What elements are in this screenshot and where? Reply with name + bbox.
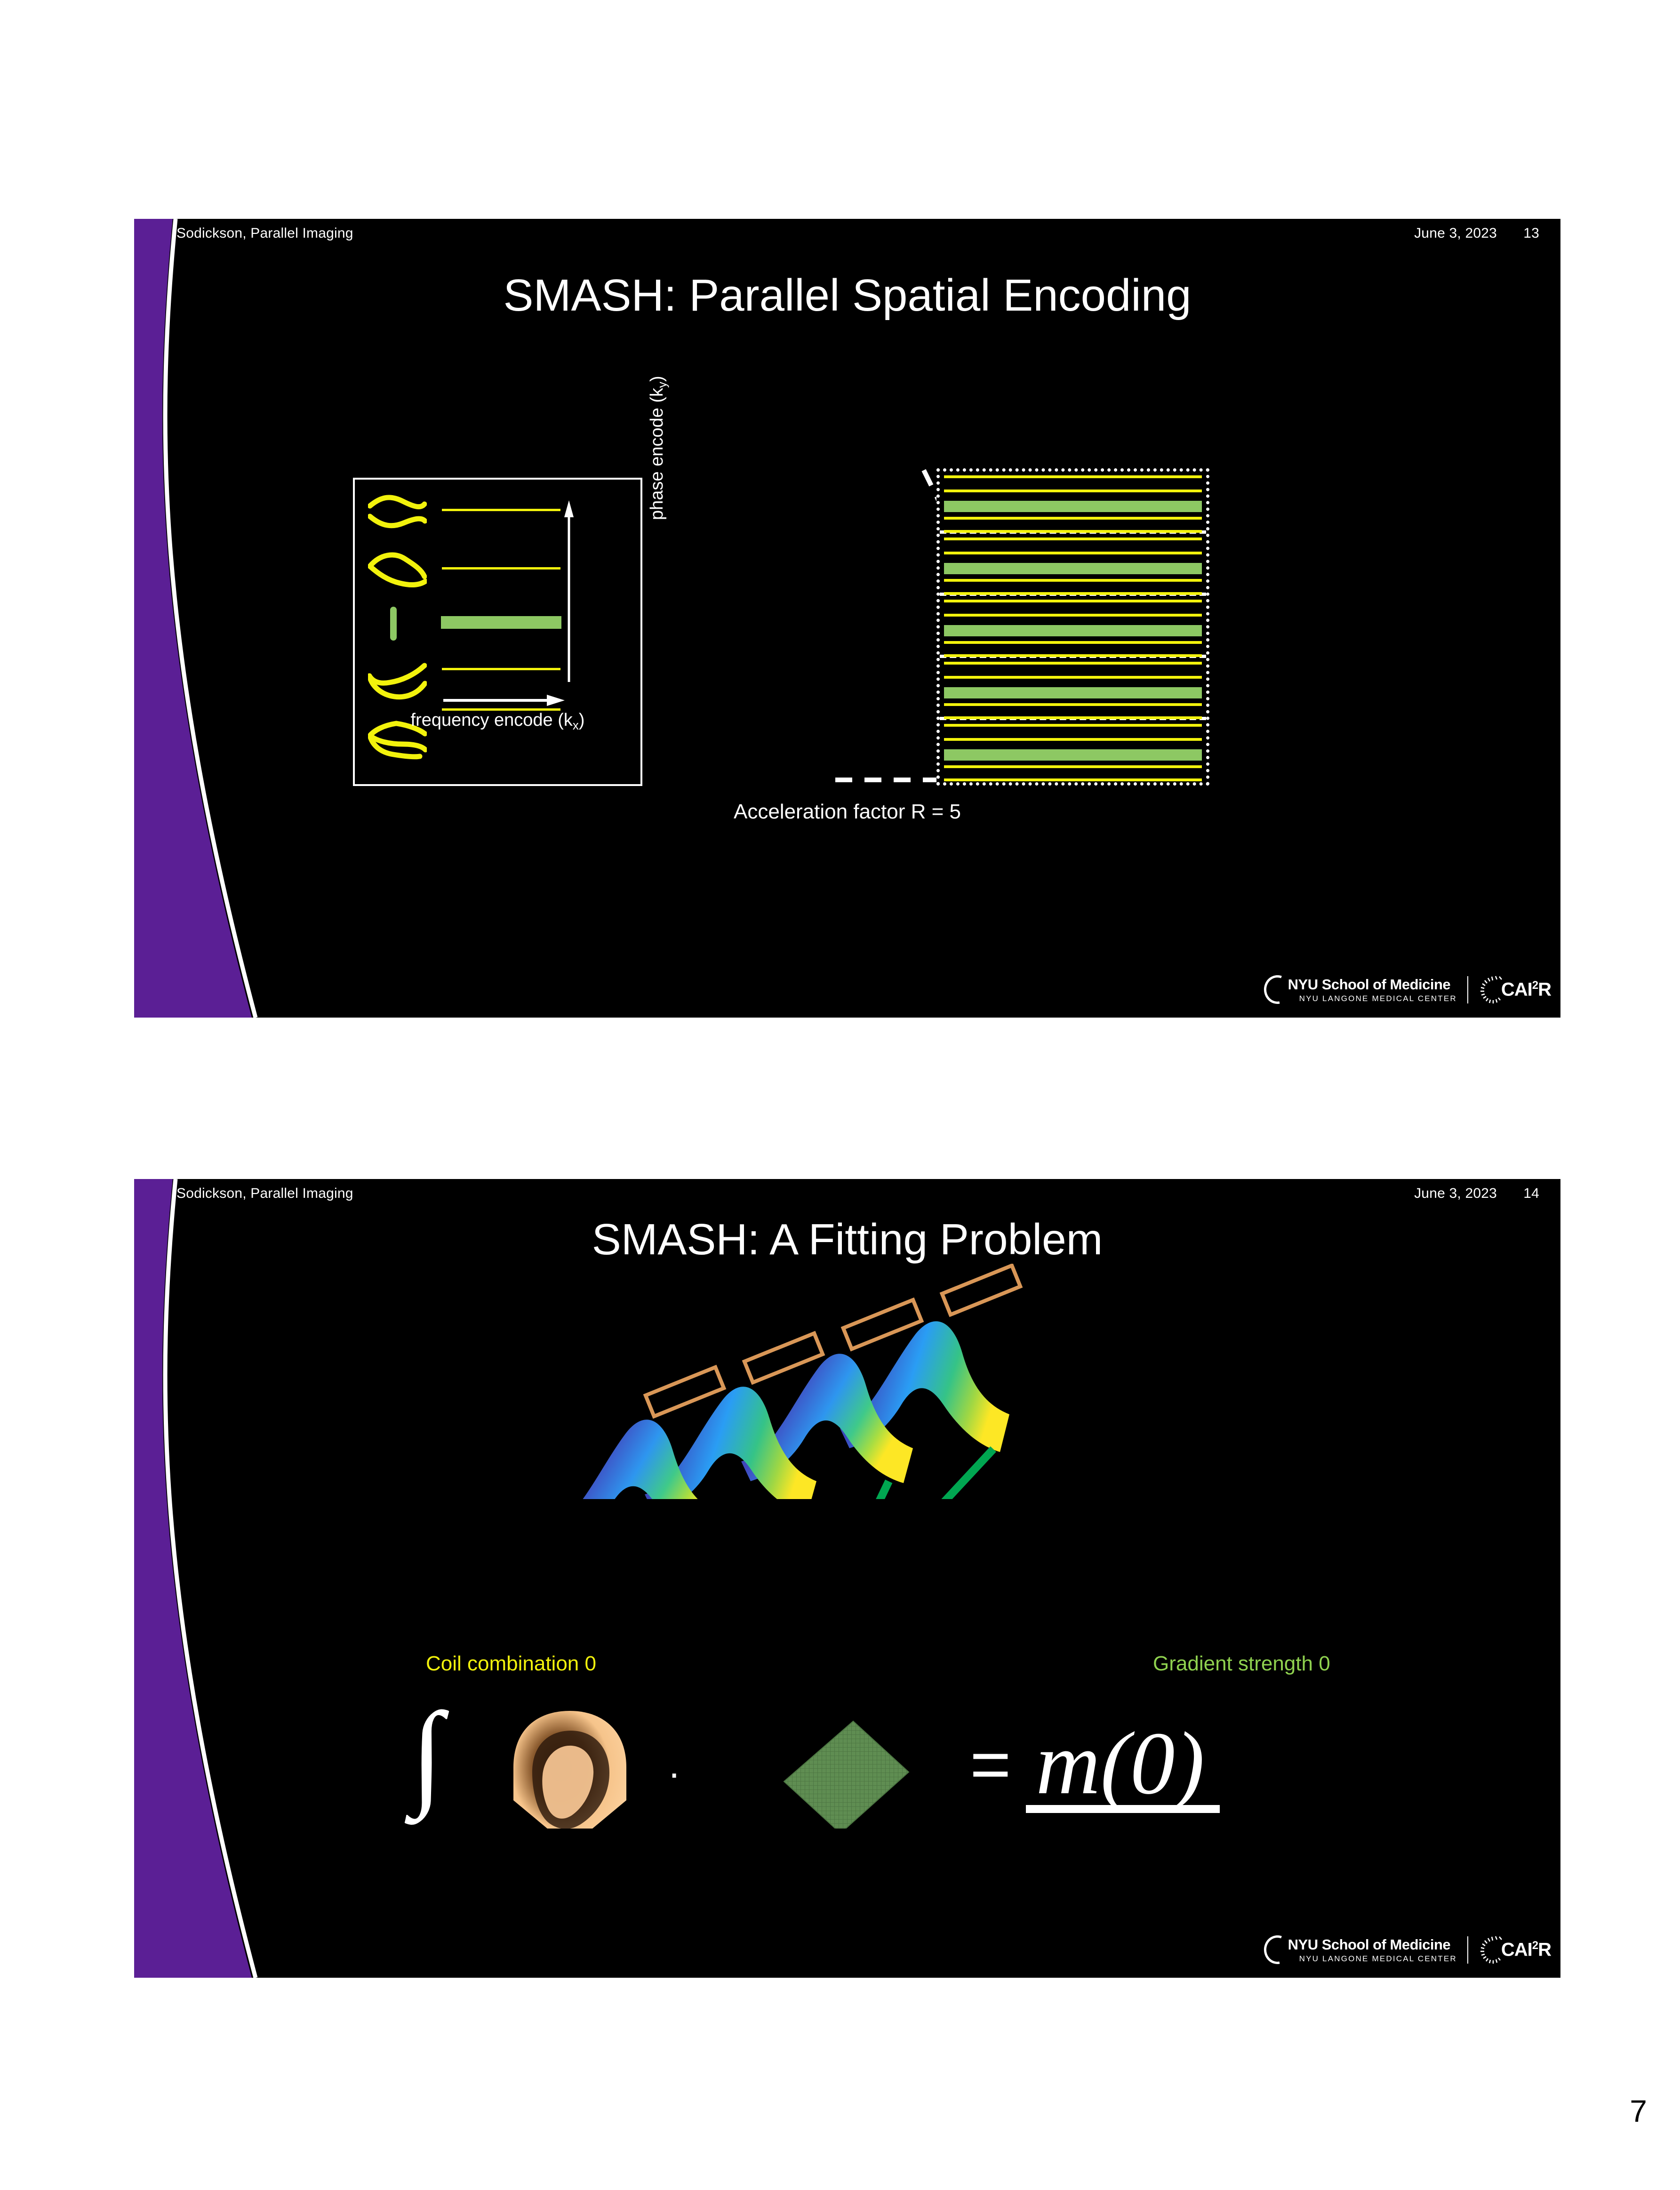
coil-sensitivity-image [513,1711,626,1829]
white-underline-bar [1026,1805,1220,1813]
phase-encode-label: phase encode (ky) [647,376,670,520]
nyu-logo-text: NYU School of Medicine NYU LANGONE MEDIC… [1288,977,1457,1003]
nyu-logo-line2: NYU LANGONE MEDICAL CENTER [1299,1955,1457,1963]
nyu-logo: NYU School of Medicine NYU LANGONE MEDIC… [1259,1935,1457,1965]
kspace-line [944,716,1202,719]
kspace-line [944,676,1202,679]
slide-title: SMASH: Parallel Spatial Encoding [134,270,1560,321]
header-presenter: Sodickson, Parallel Imaging [176,1186,353,1202]
kspace-line [944,592,1202,595]
kspace-group [940,534,1206,596]
logo-divider [1467,1936,1468,1964]
kspace-line [944,662,1202,665]
header-slide-number: 13 [1523,225,1539,241]
gradient-grid-plane [784,1721,909,1829]
header-slide-number: 14 [1523,1186,1539,1202]
cair-logo-main: CAI [1501,1940,1532,1960]
phase-encode-label-close: ) [647,376,667,382]
purple-swoosh-decoration [134,1179,275,1978]
footer-logos: NYU School of Medicine NYU LANGONE MEDIC… [1259,1935,1551,1965]
cair-logo-superscript: 2 [1532,979,1538,992]
acceleration-factor-caption: Acceleration factor R = 5 [134,800,1560,824]
cair-logo-text: CAI2R [1501,1939,1551,1960]
frequency-encode-label: frequency encode (kx) [355,710,640,733]
frequency-encode-label-text: frequency encode (k [411,710,573,730]
slide-smash-fitting-problem: Sodickson, Parallel Imaging June 3, 2023… [134,1179,1560,1978]
coil-sensitivity-surfaces [539,1264,1245,1499]
sinusoid-wave-1 [368,493,427,534]
kspace-line [944,724,1202,727]
gradient-strength-label: Gradient strength 0 [1153,1652,1330,1676]
kspace-group [940,472,1206,534]
phase-encode-label-text: phase encode (k [647,388,667,520]
frequency-encode-label-close: ) [579,710,585,730]
kspace-line [944,517,1202,520]
sinusoid-wave-2 [368,549,427,591]
sinusoid-wave-3 [368,661,427,702]
kspace-line-1 [442,509,560,511]
header-presenter: Sodickson, Parallel Imaging [176,225,353,241]
header-date: June 3, 2023 [1414,1186,1497,1202]
green-zero-order-tick [390,607,397,641]
kspace-line [944,530,1202,533]
result-m-of-zero: m(0) [1036,1714,1205,1813]
kspace-center-band [944,625,1202,636]
header-date: June 3, 2023 [1414,225,1497,241]
kspace-line [944,579,1202,582]
equals-symbol: = [970,1725,1011,1804]
kspace-line [944,475,1202,478]
kspace-center-band [944,687,1202,698]
kspace-group [940,596,1206,658]
kspace-accelerated-panel [936,468,1209,786]
phase-encode-label-subscript: y [656,382,669,388]
nyu-logo-text: NYU School of Medicine NYU LANGONE MEDIC… [1288,1937,1457,1963]
dot-multiplication-symbol: · [668,1752,680,1795]
kspace-center-band [441,616,561,629]
purple-swoosh-decoration [134,219,275,1018]
cair-logo: CAI2R [1479,975,1551,1004]
integral-symbol: ∫ [404,1692,449,1825]
cair-logo-end: R [1538,1940,1551,1960]
coil-combination-label: Coil combination 0 [426,1652,596,1676]
kspace-line [944,537,1202,540]
cair-logo-superscript: 2 [1532,1939,1538,1952]
kspace-line [944,641,1202,644]
nyu-arc-icon [1259,975,1283,1004]
kspace-line [944,778,1202,781]
kspace-single-coil-panel: frequency encode (kx) [353,478,642,786]
smash-fitting-equation: ∫ · = m(0) [134,1692,1560,1833]
kspace-line [944,654,1202,657]
nyu-arc-icon [1259,1935,1283,1965]
kspace-center-band [944,749,1202,761]
nyu-logo-line1: NYU School of Medicine [1288,1937,1457,1952]
nyu-logo: NYU School of Medicine NYU LANGONE MEDIC… [1259,975,1457,1004]
slide-smash-parallel-spatial-encoding: Sodickson, Parallel Imaging June 3, 2023… [134,219,1560,1018]
kspace-line [944,614,1202,617]
kspace-group [940,720,1206,782]
slide-title: SMASH: A Fitting Problem [134,1214,1560,1265]
kspace-center-band [944,501,1202,512]
footer-logos: NYU School of Medicine NYU LANGONE MEDIC… [1259,975,1551,1004]
kspace-line [944,552,1202,554]
nyu-logo-line1: NYU School of Medicine [1288,977,1457,992]
phase-encode-axis-arrow [568,499,570,678]
nyu-logo-line2: NYU LANGONE MEDICAL CENTER [1299,995,1457,1003]
frequency-encode-label-subscript: x [573,719,579,732]
cair-logo-end: R [1538,979,1551,1000]
kspace-line [944,703,1202,706]
logo-divider [1467,976,1468,1003]
kspace-center-band [944,563,1202,574]
frequency-encode-axis-arrow [442,693,563,707]
cair-logo-main: CAI [1501,979,1532,1000]
convergence-arrows [680,1452,991,1499]
cair-logo: CAI2R [1479,1935,1551,1965]
kspace-line [944,738,1202,741]
kspace-line [944,765,1202,768]
document-page-number: 7 [1630,2093,1647,2129]
kspace-line [944,600,1202,602]
kspace-line-3 [442,668,560,670]
kspace-line-2 [442,567,560,570]
kspace-group [940,658,1206,720]
kspace-line [944,489,1202,492]
cair-logo-text: CAI2R [1501,979,1551,1000]
